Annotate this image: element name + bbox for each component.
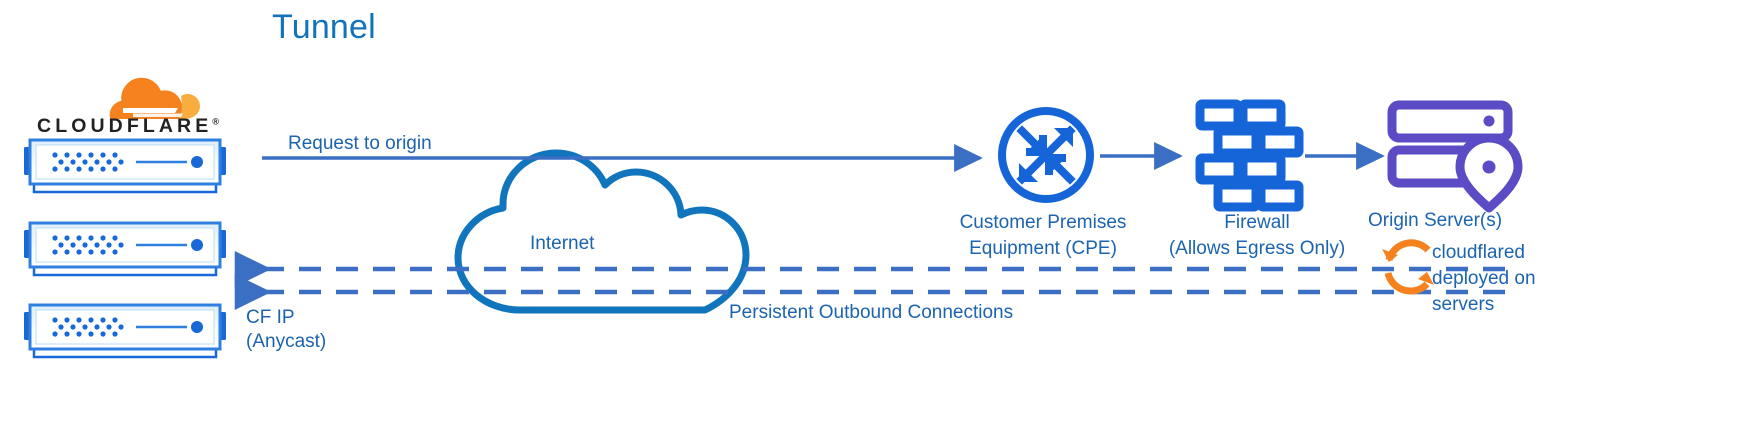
rack-server-icon (22, 135, 228, 197)
firewall-label-line2: (Allows Egress Only) (1157, 236, 1357, 262)
internet-label: Internet (530, 233, 594, 255)
cloudflared-label-line2: deployed on (1432, 266, 1582, 292)
cloudflared-annotation-label: cloudflared deployed on servers (1432, 240, 1582, 318)
cloudflared-label-line3: servers (1432, 292, 1582, 318)
tunnel-diagram: Tunnel CLOUDFLARE® (0, 0, 1754, 422)
server-rack-pin-icon (1392, 105, 1518, 208)
brick-wall-icon (1200, 104, 1299, 207)
sync-refresh-icon (1382, 243, 1434, 291)
cpe-label-line1: Customer Premises (945, 210, 1141, 236)
persistent-outbound-connections-label: Persistent Outbound Connections (729, 302, 1013, 324)
firewall-label: Firewall (Allows Egress Only) (1157, 210, 1357, 262)
converging-arrows-circle-icon (1002, 111, 1090, 199)
cf-ip-label-line1: CF IP (246, 306, 376, 330)
rack-server-icon (22, 218, 228, 280)
cpe-label-line2: Equipment (CPE) (945, 236, 1141, 262)
cloudflare-logo: CLOUDFLARE® (28, 75, 228, 143)
firewall-label-line1: Firewall (1157, 210, 1357, 236)
request-to-origin-label: Request to origin (288, 133, 432, 155)
cloud-outline-icon (458, 153, 746, 310)
cf-ip-label: CF IP (Anycast) (246, 306, 376, 354)
trademark-symbol: ® (212, 117, 219, 127)
rack-server-icon (22, 300, 228, 362)
cpe-label: Customer Premises Equipment (CPE) (945, 210, 1141, 262)
cf-ip-label-line2: (Anycast) (246, 330, 376, 354)
cloudflared-label-line1: cloudflared (1432, 240, 1582, 266)
page-title: Tunnel (272, 8, 376, 47)
origin-server-label: Origin Server(s) (1368, 210, 1538, 232)
cloudflare-wordmark-text: CLOUDFLARE (37, 115, 212, 137)
